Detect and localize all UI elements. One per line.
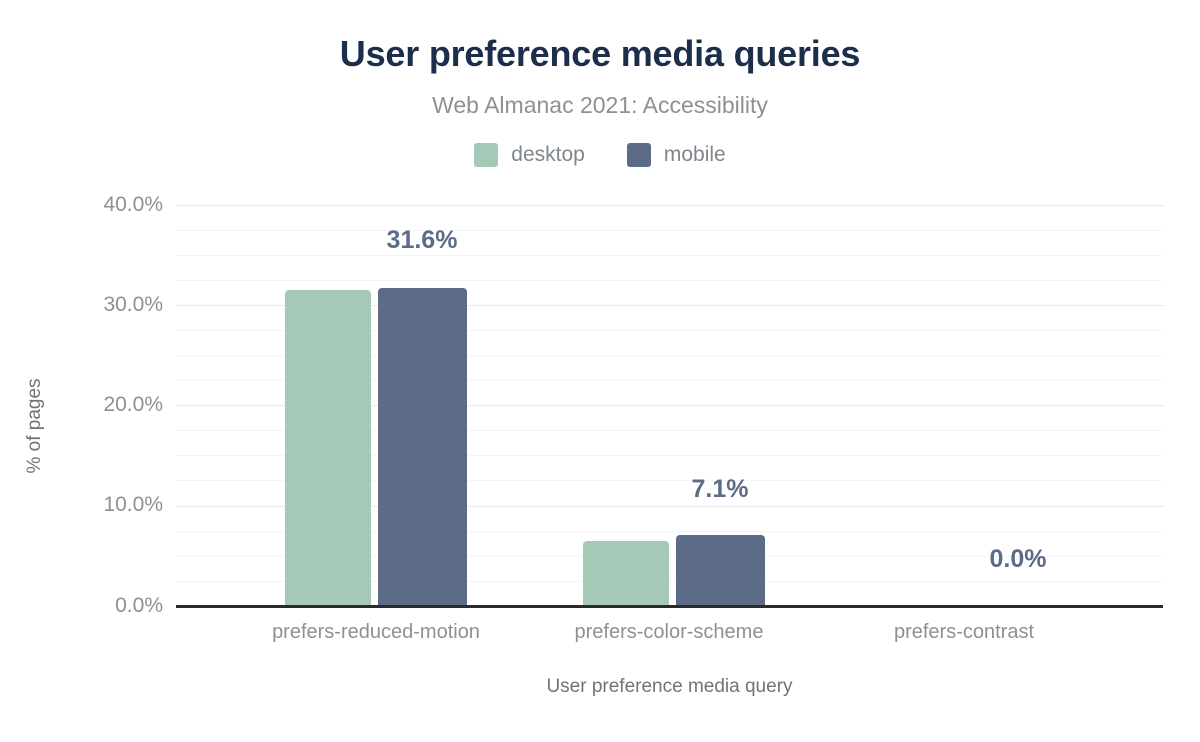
x-tick-label-prefers-reduced-motion: prefers-reduced-motion <box>256 618 496 646</box>
x-axis-title: User preference media query <box>176 676 1163 698</box>
gridline-32-5 <box>176 280 1163 281</box>
x-axis-baseline <box>176 605 1163 608</box>
gridline-40 <box>176 205 1163 206</box>
legend-swatch-mobile <box>627 143 651 167</box>
chart-legend: desktop mobile <box>0 142 1200 168</box>
value-label-prefers-color-scheme: 7.1% <box>600 474 840 504</box>
gridline-35 <box>176 255 1163 256</box>
legend-label-desktop: desktop <box>511 142 585 168</box>
legend-item-mobile[interactable]: mobile <box>627 142 726 168</box>
y-tick-label-10: 10.0% <box>3 493 163 517</box>
legend-item-desktop[interactable]: desktop <box>474 142 585 168</box>
value-label-prefers-contrast: 0.0% <box>898 544 1138 574</box>
y-tick-label-0: 0.0% <box>3 594 163 618</box>
chart-subtitle: Web Almanac 2021: Accessibility <box>0 90 1200 120</box>
y-tick-label-30: 30.0% <box>3 293 163 317</box>
chart-title: User preference media queries <box>0 30 1200 78</box>
chart-container: User preference media queries Web Almana… <box>0 0 1200 742</box>
bar-mobile-prefers-reduced-motion[interactable] <box>378 288 467 606</box>
bar-desktop-prefers-reduced-motion[interactable] <box>285 290 371 606</box>
legend-label-mobile: mobile <box>664 142 726 168</box>
y-axis-title: % of pages <box>24 366 46 486</box>
x-tick-label-prefers-color-scheme: prefers-color-scheme <box>549 618 789 646</box>
bar-desktop-prefers-color-scheme[interactable] <box>583 541 669 606</box>
x-tick-label-prefers-contrast: prefers-contrast <box>844 618 1084 646</box>
bar-mobile-prefers-color-scheme[interactable] <box>676 535 765 606</box>
y-tick-label-40: 40.0% <box>3 193 163 217</box>
legend-swatch-desktop <box>474 143 498 167</box>
value-label-prefers-reduced-motion: 31.6% <box>302 225 542 255</box>
